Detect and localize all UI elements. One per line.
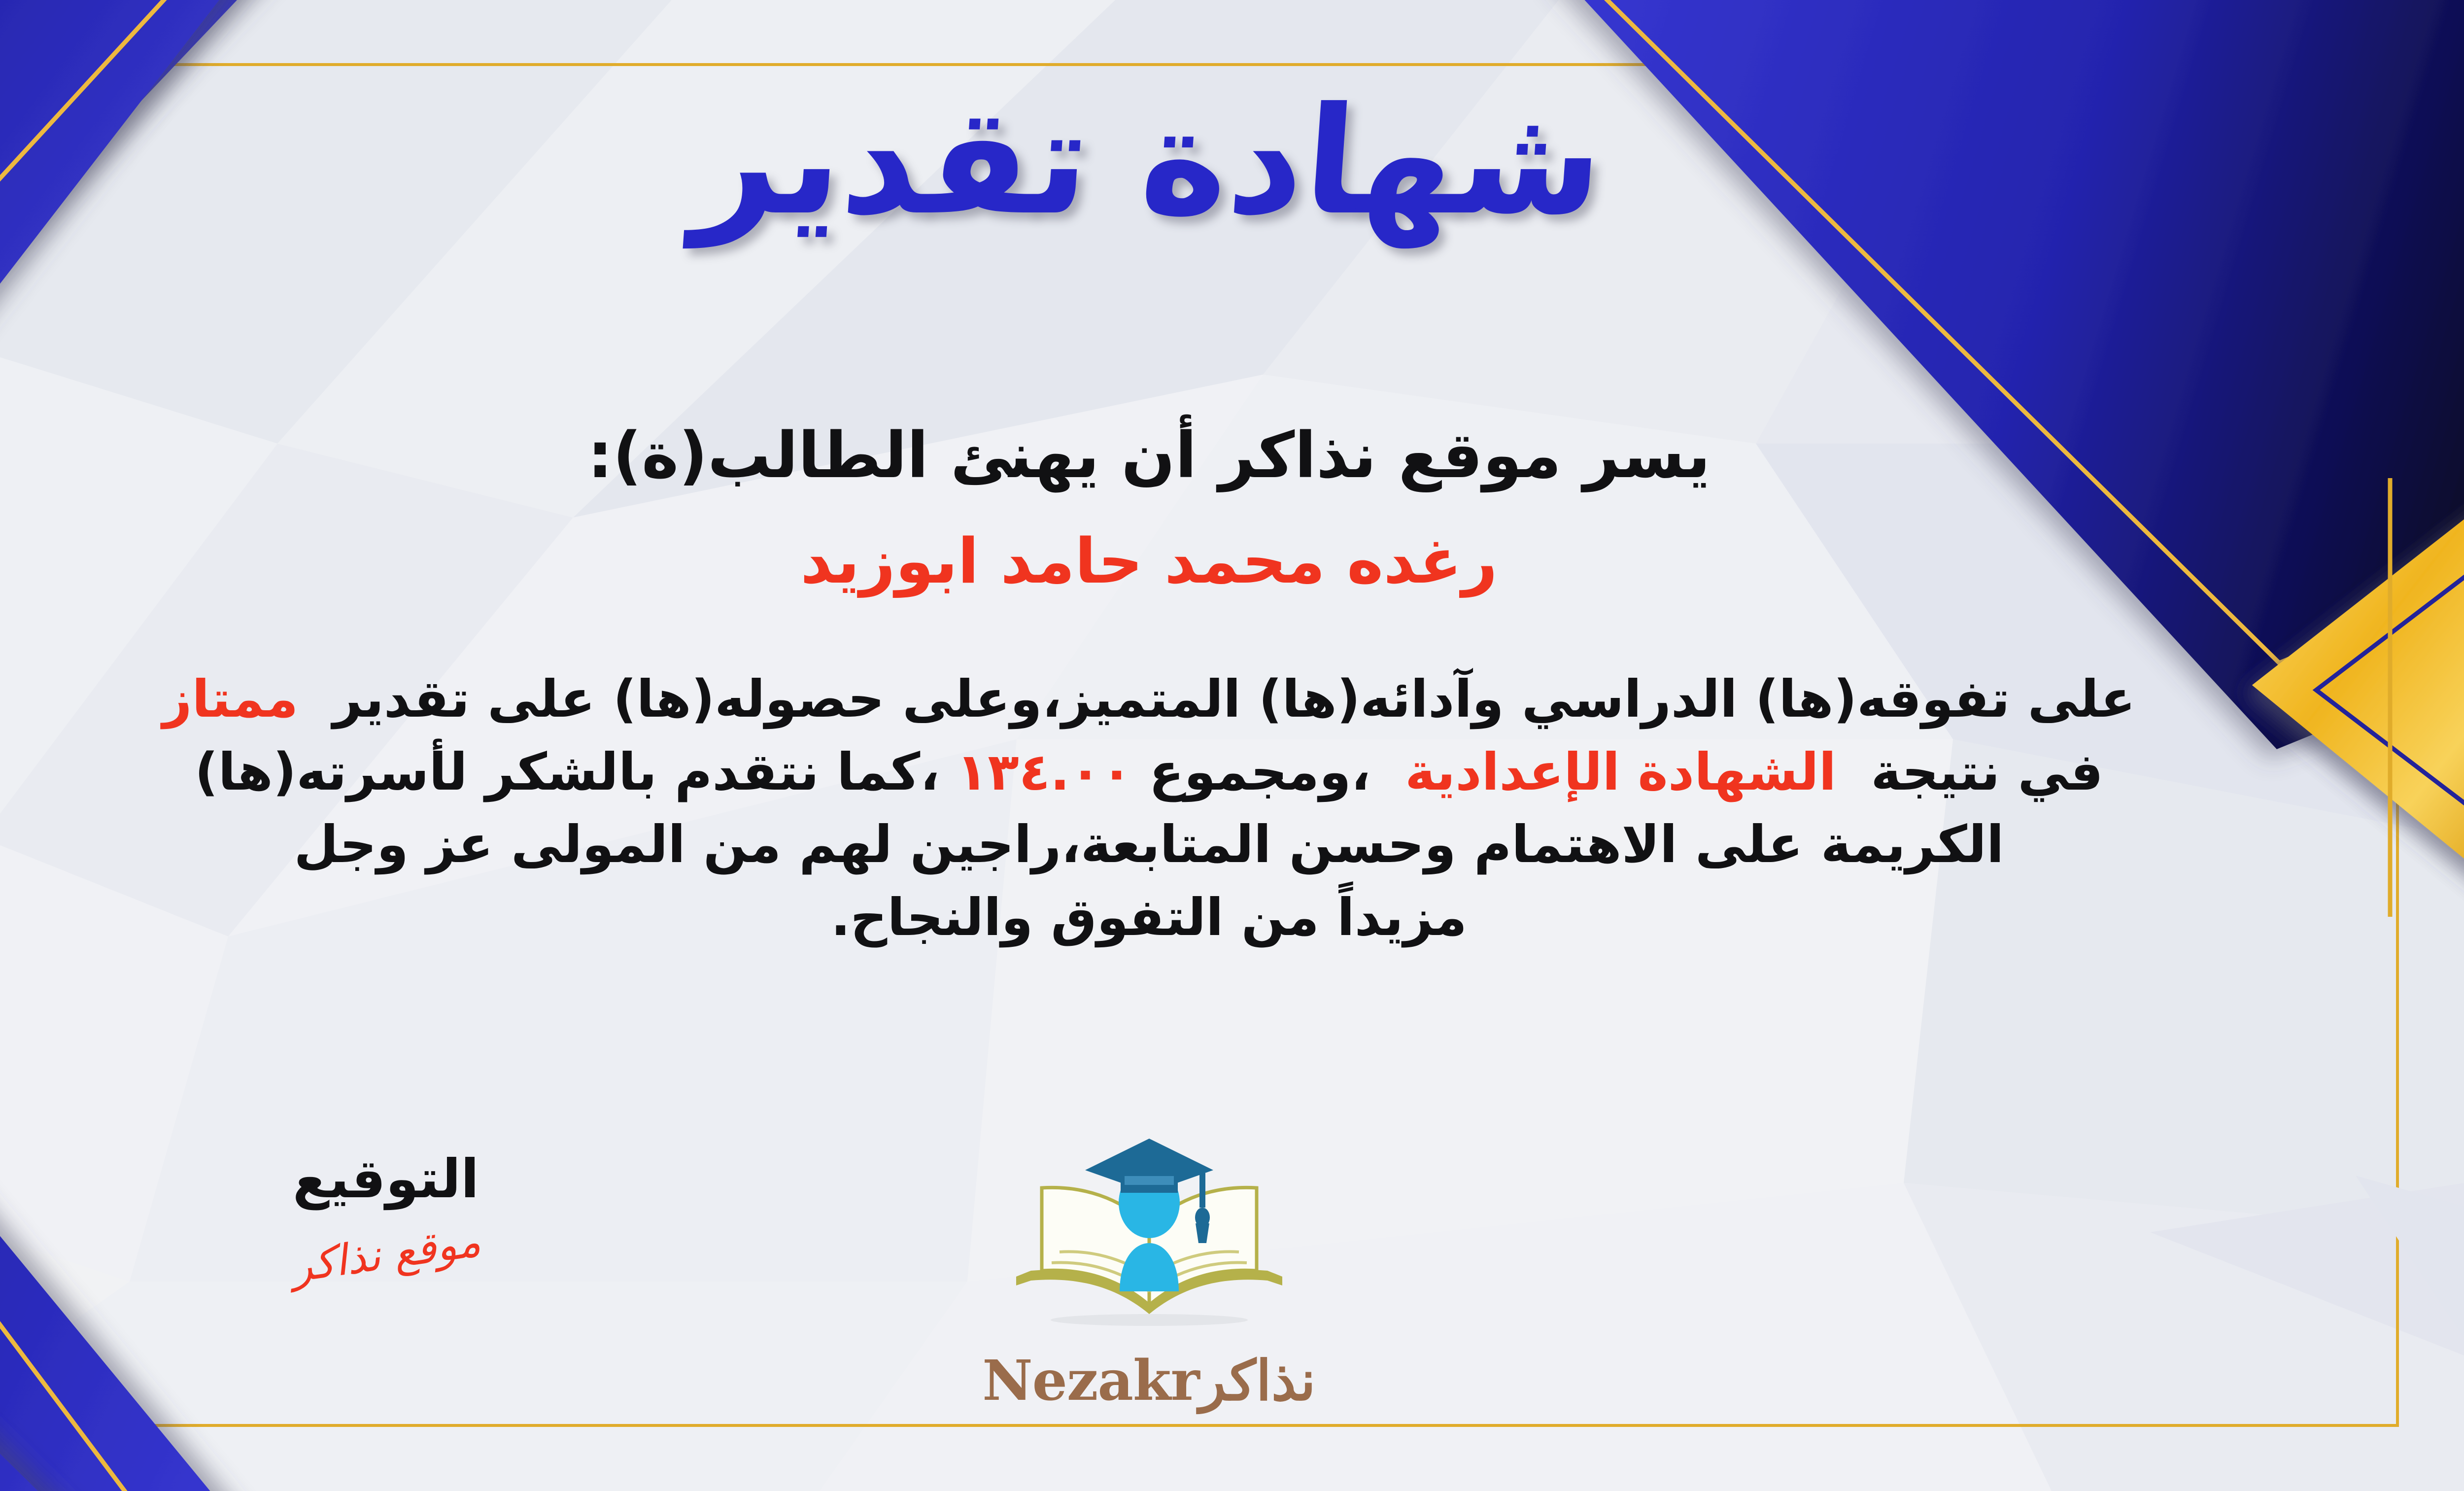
body-line-3: الكريمة على الاهتمام وحسن المتابعة،راجين… <box>0 808 2321 881</box>
student-name: رغده محمد حامد ابوزيد <box>0 525 2464 597</box>
body-line-1: على تفوقه(ها) الدراسي وآدائه(ها) المتميز… <box>0 663 2321 736</box>
logo-latin-text: Nezakr <box>982 1349 1199 1413</box>
total-score: ١٣٤.٠٠ <box>957 742 1132 802</box>
logo-wordmark: نذاكرNezakr <box>937 1349 1361 1413</box>
page-title: شهادة تقدير <box>0 69 2464 254</box>
signature-label: التوقيع <box>238 1148 534 1210</box>
exam-name: الشهادة الإعدادية <box>1405 742 1836 802</box>
site-logo: نذاكرNezakr <box>937 1129 1361 1413</box>
body-line-2-prefix: في نتيجة <box>1871 742 2103 802</box>
signature-block: التوقيع موقع نذاكر <box>238 1148 534 1279</box>
body-line-2-total-label: ،ومجموع <box>1149 742 1370 802</box>
certificate-content: شهادة تقدير يسر موقع نذاكر أن يهنئ الطال… <box>0 0 2464 1491</box>
body-line-1-text: على تفوقه(ها) الدراسي وآدائه(ها) المتميز… <box>333 669 2135 729</box>
logo-arabic-text: نذاكر <box>1199 1349 1316 1413</box>
signature-mark: موقع نذاكر <box>288 1217 483 1292</box>
body-line-2-suffix: ،كما نتقدم بالشكر لأسرته(ها) <box>195 742 940 802</box>
certificate-body: على تفوقه(ها) الدراسي وآدائه(ها) المتميز… <box>0 663 2321 954</box>
body-line-2: في نتيجةالشهادة الإعدادية،ومجموع١٣٤.٠٠،ك… <box>0 736 2321 809</box>
grade-value: ممتاز <box>163 669 299 729</box>
certificate-page: شهادة تقدير يسر موقع نذاكر أن يهنئ الطال… <box>0 0 2464 1491</box>
body-line-4: مزيداً من التفوق والنجاح. <box>0 881 2321 954</box>
logo-graphic <box>996 1129 1302 1346</box>
congratulation-line: يسر موقع نذاكر أن يهنئ الطالب(ة): <box>0 419 2464 492</box>
